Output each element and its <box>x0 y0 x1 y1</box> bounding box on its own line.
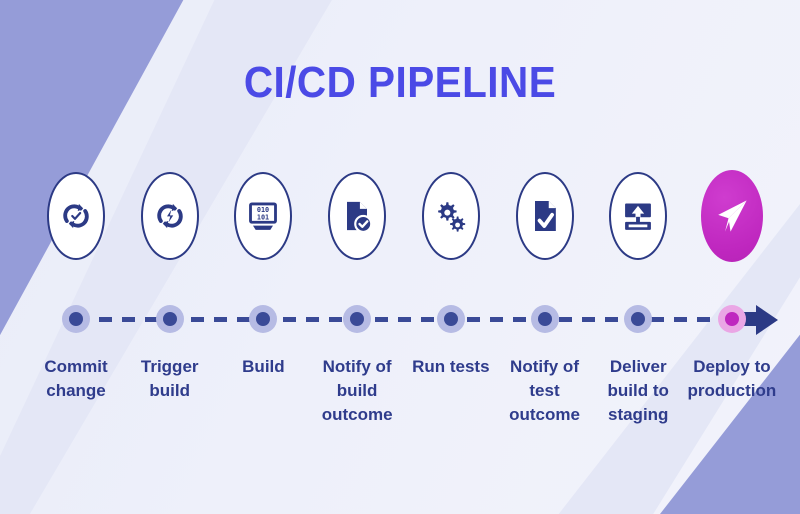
step-icon-wrap <box>139 170 201 262</box>
document-check-filled-icon <box>525 196 565 236</box>
step-label-line: Build <box>242 357 285 376</box>
step-icon-wrap: 010 101 <box>232 170 294 262</box>
step-label-line: change <box>46 381 106 400</box>
page-title: CI/CD PIPELINE <box>32 58 768 108</box>
timeline-dot[interactable] <box>531 305 559 333</box>
step-label-line: build <box>149 381 190 400</box>
step-icon-wrap <box>607 170 669 262</box>
pipeline-step-1[interactable] <box>30 170 122 262</box>
pipeline-step-4[interactable] <box>311 170 403 262</box>
step-label: Deliverbuild tostaging <box>592 355 684 427</box>
pipeline-step-6[interactable] <box>499 170 591 262</box>
timeline-dot[interactable] <box>624 305 652 333</box>
timeline-dot[interactable] <box>437 305 465 333</box>
step-label: Run tests <box>405 355 497 379</box>
step-label-line: Trigger <box>141 357 199 376</box>
monitor-binary-icon: 010 101 <box>243 196 283 236</box>
step-icon-wrap <box>514 170 576 262</box>
cicd-pipeline-infographic: CI/CD PIPELINE 010 101 <box>0 0 800 514</box>
step-label-line: staging <box>608 405 668 424</box>
step-label: Triggerbuild <box>124 355 216 403</box>
step-icon-wrap <box>420 170 482 262</box>
pipeline-step-3[interactable]: 010 101 <box>217 170 309 262</box>
step-label: Notify of buildoutcome <box>311 355 403 427</box>
step-label: Deploy toproduction <box>686 355 778 403</box>
pipeline-step-5[interactable] <box>405 170 497 262</box>
timeline-dot[interactable] <box>343 305 371 333</box>
step-icon-wrap <box>326 170 388 262</box>
server-upload-icon <box>618 196 658 236</box>
step-label-line: outcome <box>509 405 580 424</box>
step-label-line: production <box>688 381 777 400</box>
sync-bolt-icon <box>150 196 190 236</box>
timeline-dot[interactable] <box>249 305 277 333</box>
timeline-dot-accent[interactable] <box>718 305 746 333</box>
pipeline-label-row: CommitchangeTriggerbuildBuildNotify of b… <box>30 355 778 427</box>
step-label-line: outcome <box>322 405 393 424</box>
document-check-badge-icon <box>337 196 377 236</box>
pipeline-icon-row: 010 101 <box>30 170 778 262</box>
gears-icon <box>431 196 471 236</box>
svg-text:101: 101 <box>257 214 269 222</box>
step-label-line: Notify of build <box>323 357 392 400</box>
step-label-line: Deliver <box>610 357 667 376</box>
step-label-line: Notify of test <box>510 357 579 400</box>
step-icon-wrap <box>701 170 763 262</box>
sync-check-icon <box>56 196 96 236</box>
step-icon-wrap <box>45 170 107 262</box>
step-label: Commitchange <box>30 355 122 403</box>
timeline-dot[interactable] <box>156 305 184 333</box>
step-label: Build <box>217 355 309 379</box>
pipeline-step-7[interactable] <box>592 170 684 262</box>
step-label: Notify of testoutcome <box>499 355 591 427</box>
step-label-line: Deploy to <box>693 357 770 376</box>
step-label-line: build to <box>608 381 669 400</box>
timeline-dot[interactable] <box>62 305 90 333</box>
paper-plane-icon <box>710 194 754 238</box>
step-label-line: Run tests <box>412 357 489 376</box>
pipeline-timeline <box>0 302 800 338</box>
pipeline-step-2[interactable] <box>124 170 216 262</box>
pipeline-step-8[interactable] <box>686 170 778 262</box>
step-label-line: Commit <box>44 357 107 376</box>
arrow-right-icon <box>756 305 778 335</box>
